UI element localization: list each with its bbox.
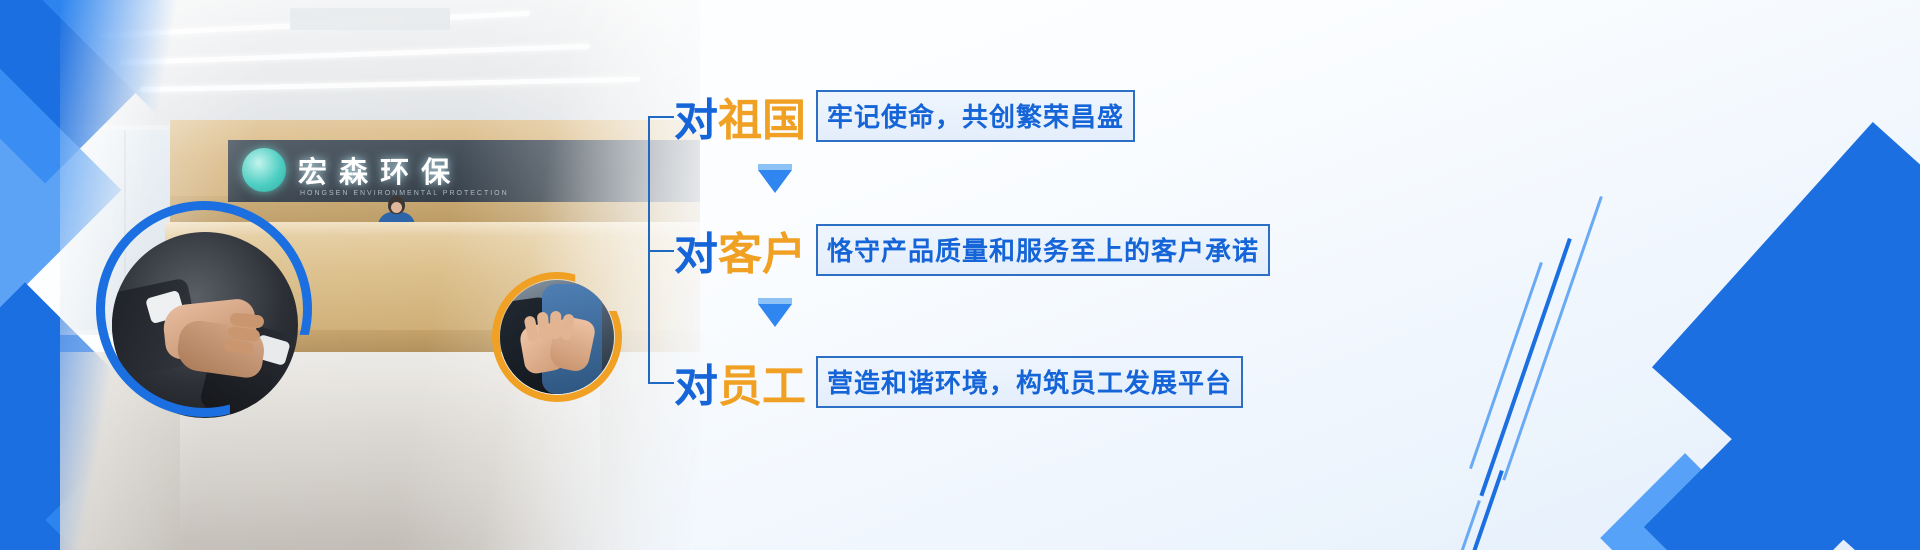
slogan-prefix-2: 对 — [674, 218, 718, 282]
slogan-prefix-1: 对 — [674, 84, 718, 148]
triangle-down-icon-1 — [758, 170, 792, 193]
right-decor-group — [1360, 0, 1920, 550]
slogan-row-3[interactable]: 对员工 营造和谐环境，构筑员工发展平台 — [674, 354, 1243, 410]
slogan-statement-2: 恪守产品质量和服务至上的客户承诺 — [816, 224, 1270, 276]
slogan-row-1[interactable]: 对祖国 牢记使命，共创繁荣昌盛 — [674, 88, 1135, 144]
slogan-group: 对祖国 牢记使命，共创繁荣昌盛 对客户 恪守产品质量和服务至上的客户承诺 对员工… — [648, 72, 1348, 392]
slogan-label-1: 对祖国 — [674, 84, 806, 148]
slogan-subject-2: 客户 — [718, 218, 806, 282]
slogan-statement-3: 营造和谐环境，构筑员工发展平台 — [816, 356, 1243, 408]
slogan-subject-1: 祖国 — [718, 84, 806, 148]
triangle-down-icon-2 — [758, 304, 792, 327]
decor-line-3 — [1469, 262, 1543, 469]
bracket-tick-1 — [648, 116, 674, 118]
slogan-row-2[interactable]: 对客户 恪守产品质量和服务至上的客户承诺 — [674, 222, 1270, 278]
bracket-tick-2 — [648, 250, 674, 252]
decor-line-1 — [1502, 196, 1603, 481]
slogan-statement-1: 牢记使命，共创繁荣昌盛 — [816, 90, 1135, 142]
decor-line-2 — [1479, 238, 1571, 496]
slogan-label-3: 对员工 — [674, 350, 806, 414]
slogan-label-2: 对客户 — [674, 218, 806, 282]
promo-banner: 宏 森 环 保 HONGSEN ENVIRONMENTAL PROTECTION — [0, 0, 1920, 550]
bracket-tick-3 — [648, 382, 674, 384]
slogan-subject-3: 员工 — [718, 350, 806, 414]
slogan-prefix-3: 对 — [674, 350, 718, 414]
